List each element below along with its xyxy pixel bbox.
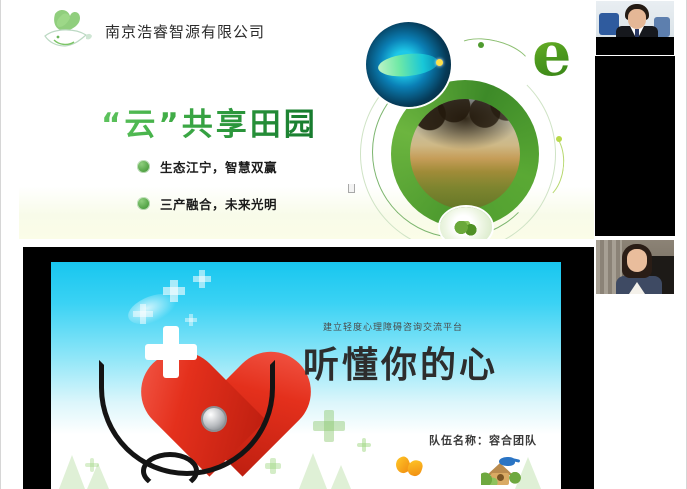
- stem-dot-icon: [556, 136, 562, 142]
- heart-stethoscope-graphic: [93, 280, 293, 480]
- brand-row: 南京浩睿智源有限公司: [41, 8, 265, 54]
- shared-screen-slide-top[interactable]: 南京浩睿智源有限公司 “云”共享田园 生态江宁，智慧双赢 三产融合，未来光明: [19, 0, 594, 239]
- green-cross-icon: [265, 458, 281, 474]
- stethoscope-earpiece-icon: [141, 452, 199, 489]
- green-cross-icon: [313, 410, 345, 442]
- green-cross-icon: [357, 438, 371, 452]
- company-logo-icon: [41, 8, 93, 54]
- fish-photo-circle-icon: [366, 22, 451, 107]
- green-bullet-dot-icon: [137, 197, 150, 210]
- participant-video-1[interactable]: [595, 0, 675, 56]
- stem-dot-icon: [478, 42, 484, 48]
- shared-screen-slide-bottom[interactable]: 建立轻度心理障碍咨询交流平台 听懂你的心 队伍名称：容合团队: [23, 247, 594, 489]
- participant-face: [627, 249, 647, 272]
- bullet-item: 生态江宁，智慧双赢: [137, 157, 277, 176]
- butterfly-icon: [396, 457, 422, 477]
- slide-graphic-cluster: e: [344, 18, 594, 239]
- bullet-item: 三产融合，未来光明: [137, 194, 277, 213]
- slide-title: “云”共享田园: [101, 99, 318, 144]
- bottom-slide-subtitle: 建立轻度心理障碍咨询交流平台: [323, 320, 463, 333]
- green-letter-e-logo-icon: e: [532, 26, 594, 88]
- birdhouse-with-blue-bird-icon: [481, 455, 521, 485]
- company-name: 南京浩睿智源有限公司: [105, 21, 265, 42]
- bottom-slide-team-name: 队伍名称：容合团队: [429, 432, 537, 448]
- participant-face: [628, 9, 646, 29]
- video-panel-background: [595, 36, 675, 236]
- green-bullet-dot-icon: [137, 160, 150, 173]
- seedling-photo-circle-icon: [440, 207, 492, 239]
- participant-video-2[interactable]: [595, 239, 675, 295]
- farm-landscape-circle-icon: [410, 99, 520, 209]
- video-1-letterbox: [596, 37, 674, 55]
- bottom-slide-title: 听懂你的心: [303, 336, 498, 388]
- slide-top-content: 南京浩睿智源有限公司 “云”共享田园 生态江宁，智慧双赢 三产融合，未来光明: [19, 0, 594, 239]
- bullet-label: 三产融合，未来光明: [160, 194, 277, 213]
- screen-root: 南京浩睿智源有限公司 “云”共享田园 生态江宁，智慧双赢 三产融合，未来光明: [0, 0, 687, 489]
- bullet-label: 生态江宁，智慧双赢: [160, 157, 277, 176]
- stethoscope-bell-icon: [201, 406, 227, 432]
- tree-silhouette: [59, 455, 85, 489]
- tree-silhouette: [331, 465, 351, 489]
- white-cross-icon: [145, 326, 197, 378]
- slide-bottom-content: 建立轻度心理障碍咨询交流平台 听懂你的心 队伍名称：容合团队: [51, 262, 561, 489]
- bullet-list: 生态江宁，智慧双赢 三产融合，未来光明: [137, 157, 277, 213]
- text-cursor-icon: [348, 184, 355, 193]
- tree-silhouette: [299, 453, 327, 489]
